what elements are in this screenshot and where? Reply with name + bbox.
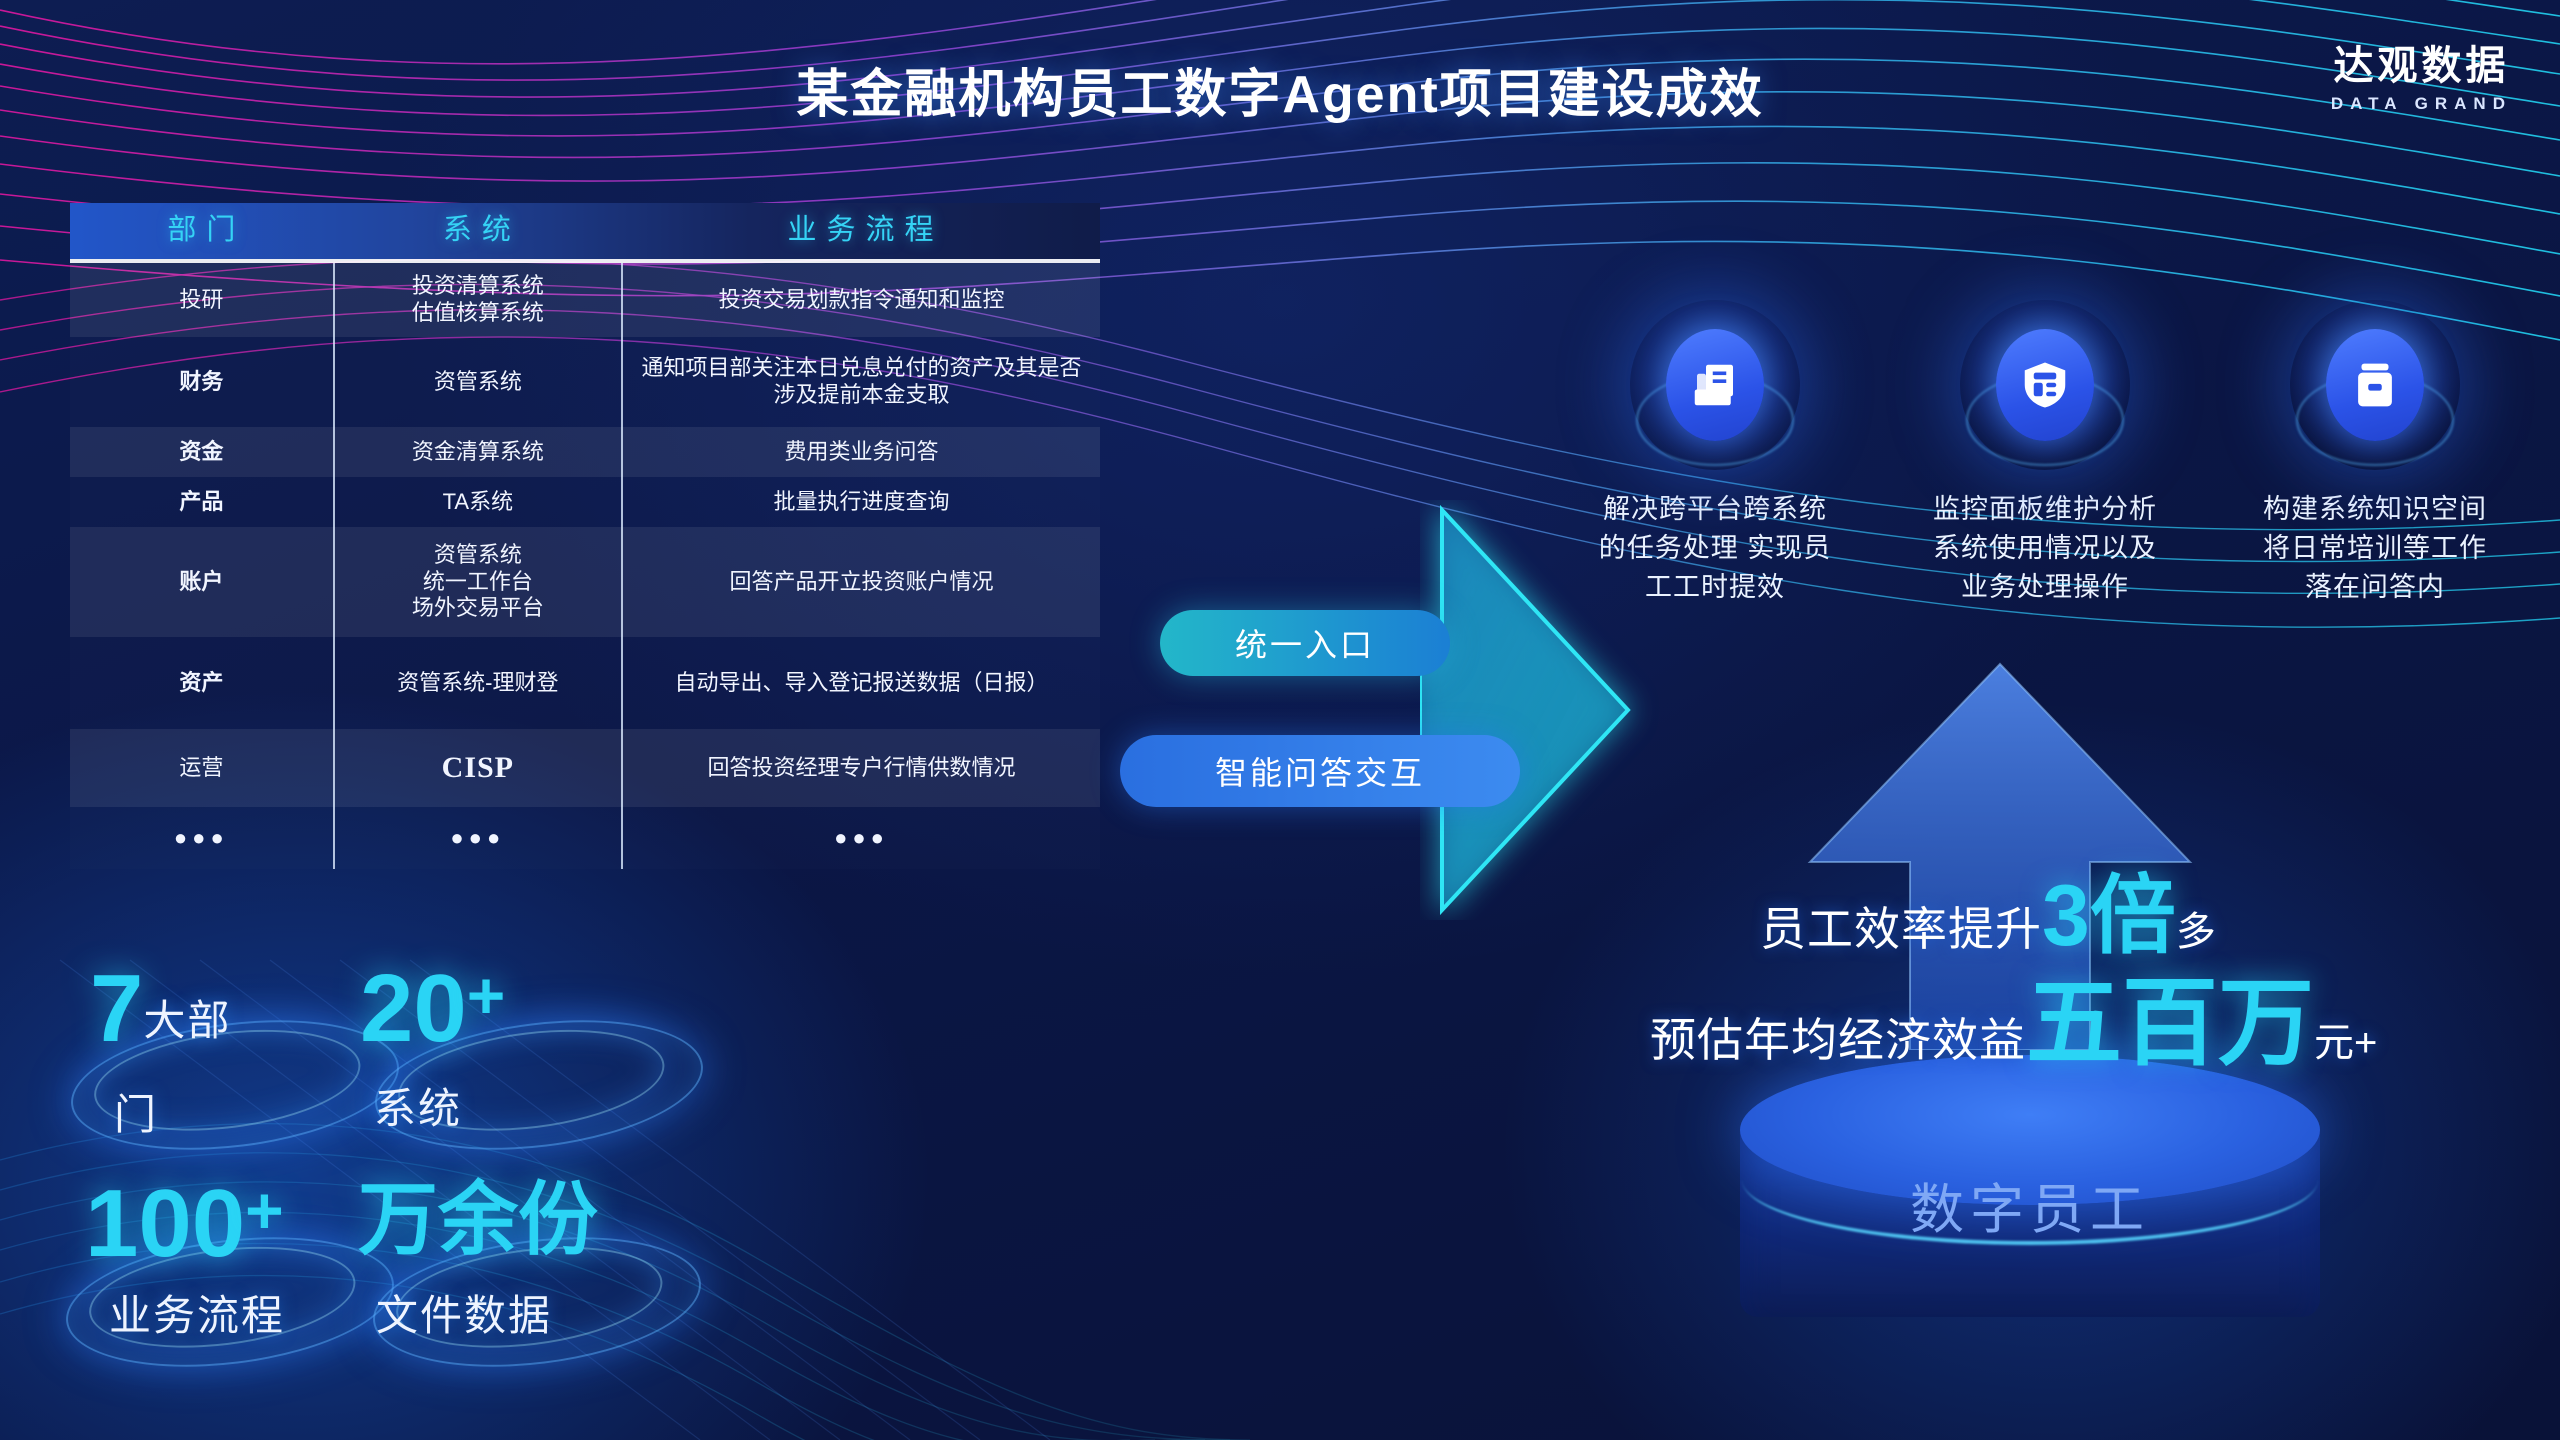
stat-systems: 20 + 系统 <box>360 965 505 1136</box>
stat-suffix: + <box>245 1180 284 1241</box>
cell-process: 回答投资经理专户行情供数情况 <box>621 729 1100 807</box>
cell-system: ●●● <box>333 807 621 869</box>
cell-system: 资管系统-理财登 <box>333 637 621 729</box>
icon-orb <box>1630 300 1800 470</box>
cell-process: ●●● <box>621 807 1100 869</box>
stat-label-2: 文件数据 <box>376 1282 598 1343</box>
stats-grid: 7 大部 门 20 + 系统 100 + <box>90 965 1110 1365</box>
stat-suffix: + <box>467 965 506 1026</box>
orb-disc <box>1996 329 2094 441</box>
cell-department: 运营 <box>70 729 333 807</box>
table-row: 资金 资金清算系统 费用类业务问答 <box>70 427 1100 477</box>
shield-dashboard-icon <box>2018 358 2072 412</box>
pill-intelligent-qa[interactable]: 智能问答交互 <box>1120 735 1520 807</box>
stat-label-2: 系统 <box>374 1075 505 1136</box>
cell-system: 资管系统 统一工作台 场外交易平台 <box>333 527 621 637</box>
stat-number: 100 <box>85 1180 245 1268</box>
table-row: 产品 TA系统 批量执行进度查询 <box>70 477 1100 527</box>
stat-departments: 7 大部 门 <box>90 965 231 1142</box>
icon-orb <box>1960 300 2130 470</box>
kpi-prefix: 预估年均经济效益 <box>1650 1004 2026 1070</box>
table-body: 投研 投资清算系统 估值核算系统 投资交易划款指令通知和监控 财务 资管系统 通… <box>70 263 1100 869</box>
kpi-economic-benefit: 预估年均经济效益 五百万 元+ <box>1650 945 2377 1084</box>
column-header-system: 系统 <box>333 203 621 259</box>
cell-department: 产品 <box>70 477 333 527</box>
table-row: 投研 投资清算系统 估值核算系统 投资交易划款指令通知和监控 <box>70 263 1100 337</box>
department-system-process-table: 部门 系统 业务流程 投研 投资清算系统 估值核算系统 投资交易划款指令通知和监… <box>70 203 1100 869</box>
stat-label: 大部 <box>143 987 231 1048</box>
logo-text-en: DATA GRAND <box>2331 95 2512 112</box>
feature-card-text: 监控面板维护分析 系统使用情况以及 业务处理操作 <box>1933 490 2157 607</box>
table-header-row: 部门 系统 业务流程 <box>70 203 1100 259</box>
orb-disc <box>1666 329 1764 441</box>
cell-system: 投资清算系统 估值核算系统 <box>333 263 621 337</box>
table-row: 资产 资管系统-理财登 自动导出、导入登记报送数据（日报） <box>70 637 1100 729</box>
cell-process: 批量执行进度查询 <box>621 477 1100 527</box>
kpi-value: 五百万 <box>2026 945 2314 1084</box>
cell-process: 回答产品开立投资账户情况 <box>621 527 1100 637</box>
slide-root: 某金融机构员工数字Agent项目建设成效 达观数据 DATA GRAND 部门 … <box>0 0 2560 1440</box>
feature-cards: 解决跨平台跨系统 的任务处理 实现员 工工时提效 监控面板维护分析 系统使用情况… <box>1570 300 2520 607</box>
cell-department: 投研 <box>70 263 333 337</box>
stat-label-2: 业务流程 <box>109 1282 285 1343</box>
cell-department: 资产 <box>70 637 333 729</box>
column-header-department: 部门 <box>70 203 333 259</box>
icon-orb <box>2290 300 2460 470</box>
cell-department: ●●● <box>70 807 333 869</box>
stat-processes: 100 + 业务流程 <box>85 1180 285 1343</box>
cell-system: 资管系统 <box>333 337 621 427</box>
feature-card[interactable]: 监控面板维护分析 系统使用情况以及 业务处理操作 <box>1900 300 2190 607</box>
table-row: 财务 资管系统 通知项目部关注本日兑息兑付的资产及其是否涉及提前本金支取 <box>70 337 1100 427</box>
cell-process: 费用类业务问答 <box>621 427 1100 477</box>
cell-process: 投资交易划款指令通知和监控 <box>621 263 1100 337</box>
stat-number: 7 <box>90 965 143 1053</box>
cell-department: 财务 <box>70 337 333 427</box>
cell-process: 通知项目部关注本日兑息兑付的资产及其是否涉及提前本金支取 <box>621 337 1100 427</box>
table-row: 账户 资管系统 统一工作台 场外交易平台 回答产品开立投资账户情况 <box>70 527 1100 637</box>
pill-unified-entry[interactable]: 统一入口 <box>1160 610 1450 676</box>
podium-label: 数字员工 <box>1740 1165 2320 1244</box>
table-row: ●●● ●●● ●●● <box>70 807 1100 869</box>
page-title: 某金融机构员工数字Agent项目建设成效 <box>0 52 2560 127</box>
column-header-process: 业务流程 <box>621 203 1100 259</box>
right-arrow-icon <box>1420 500 1710 920</box>
stat-number: 20 <box>360 965 467 1053</box>
cell-department: 资金 <box>70 427 333 477</box>
cell-process: 自动导出、导入登记报送数据（日报） <box>621 637 1100 729</box>
feature-card[interactable]: 构建系统知识空间 将日常培训等工作 落在问答内 <box>2230 300 2520 607</box>
brand-logo: 达观数据 DATA GRAND <box>2331 46 2512 112</box>
table-row: 运营 CISP 回答投资经理专户行情供数情况 <box>70 729 1100 807</box>
logo-text-cn: 达观数据 <box>2331 46 2512 86</box>
stat-label-2: 门 <box>114 1081 231 1142</box>
orb-disc <box>2326 329 2424 441</box>
cell-system: CISP <box>333 729 621 807</box>
stat-files: 万余份 文件数据 <box>358 1180 598 1343</box>
kpi-suffix: 元+ <box>2314 1010 2377 1068</box>
cell-system: TA系统 <box>333 477 621 527</box>
feature-card-text: 构建系统知识空间 将日常培训等工作 落在问答内 <box>2263 490 2487 607</box>
cell-department: 账户 <box>70 527 333 637</box>
archive-box-icon <box>2348 358 2402 412</box>
document-stack-icon <box>1688 358 1742 412</box>
stat-number: 万余份 <box>358 1180 598 1260</box>
cell-system: 资金清算系统 <box>333 427 621 477</box>
